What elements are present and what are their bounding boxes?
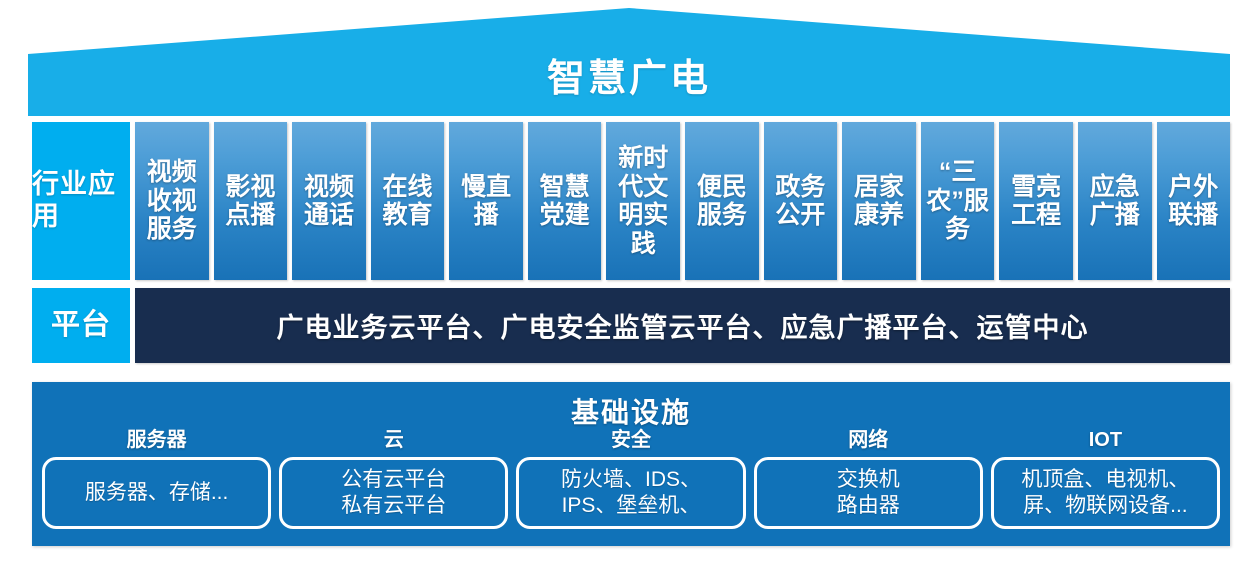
app-cell-label: 雪亮工程 [1000, 173, 1072, 230]
app-cell-label: 应急广播 [1079, 173, 1151, 230]
app-cell-label: 智慧党建 [529, 173, 601, 230]
infrastructure-box-server[interactable]: 服务器、存储... [42, 457, 271, 529]
infrastructure-column-title: 网络 [754, 430, 983, 450]
infrastructure-box-text: 公有云平台 私有云平台 [341, 467, 446, 518]
app-cell-outdoor-broadcast[interactable]: 户外联播 [1157, 122, 1231, 280]
platform-row: 平台 广电业务云平台、广电安全监管云平台、应急广播平台、运管中心 [32, 288, 1230, 363]
industry-applications-label: 行业应用 [32, 122, 130, 280]
infrastructure-box-network[interactable]: 交换机 路由器 [754, 457, 983, 529]
app-cell-label: 视频通话 [293, 173, 365, 230]
infrastructure-box-cloud[interactable]: 公有云平台 私有云平台 [279, 457, 508, 529]
app-cell-label: 户外联播 [1158, 173, 1230, 230]
app-cell-film-on-demand[interactable]: 影视点播 [214, 122, 288, 280]
industry-applications-label-text: 行业应用 [32, 169, 130, 233]
app-cell-smart-party-building[interactable]: 智慧党建 [528, 122, 602, 280]
roof-title: 智慧广电 [28, 60, 1230, 98]
roof-banner: 智慧广电 [28, 8, 1230, 118]
infrastructure-column-title: 安全 [516, 430, 745, 450]
infrastructure-column-network: 网络 交换机 路由器 [754, 430, 983, 529]
platform-label-text: 平台 [51, 308, 111, 342]
app-cell-new-era-civilization-practice[interactable]: 新时代文明实践 [606, 122, 680, 280]
infrastructure-box-text: 防火墙、IDS、 IPS、堡垒机、 [561, 467, 701, 518]
infrastructure-column-security: 安全 防火墙、IDS、 IPS、堡垒机、 [516, 430, 745, 529]
industry-applications-row: 行业应用 视频收视服务 影视点播 视频通话 在线教育 慢直播 智慧党建 新时代文… [32, 122, 1230, 280]
app-cell-xueliang-project[interactable]: 雪亮工程 [999, 122, 1073, 280]
app-cell-label: 便民服务 [686, 173, 758, 230]
infrastructure-column-title: IOT [991, 430, 1220, 450]
app-cell-online-education[interactable]: 在线教育 [371, 122, 445, 280]
app-cell-video-rating-service[interactable]: 视频收视服务 [135, 122, 209, 280]
infrastructure-box-iot[interactable]: 机顶盒、电视机、 屏、物联网设备... [991, 457, 1220, 529]
infrastructure-column-iot: IOT 机顶盒、电视机、 屏、物联网设备... [991, 430, 1220, 529]
app-cell-three-rural-service[interactable]: “三农”服务 [921, 122, 995, 280]
app-cell-label: 居家康养 [843, 173, 915, 230]
app-cell-home-care[interactable]: 居家康养 [842, 122, 916, 280]
platform-panel[interactable]: 广电业务云平台、广电安全监管云平台、应急广播平台、运管中心 [135, 288, 1230, 363]
infrastructure-column-title: 云 [279, 430, 508, 450]
app-cell-emergency-broadcast[interactable]: 应急广播 [1078, 122, 1152, 280]
infrastructure-column-cloud: 云 公有云平台 私有云平台 [279, 430, 508, 529]
app-cell-label: 影视点播 [215, 173, 287, 230]
app-cell-label: 慢直播 [450, 173, 522, 230]
app-cell-government-affairs-disclosure[interactable]: 政务公开 [764, 122, 838, 280]
infrastructure-columns: 服务器 服务器、存储... 云 公有云平台 私有云平台 安全 防火墙、IDS、 … [42, 430, 1220, 529]
platform-panel-text: 广电业务云平台、广电安全监管云平台、应急广播平台、运管中心 [277, 306, 1089, 345]
smart-broadcasting-architecture-diagram: 智慧广电 行业应用 视频收视服务 影视点播 视频通话 在线教育 慢直播 智慧党建… [0, 0, 1258, 561]
app-cell-label: 在线教育 [372, 173, 444, 230]
app-cell-label: 政务公开 [765, 173, 837, 230]
industry-applications-cells: 视频收视服务 影视点播 视频通话 在线教育 慢直播 智慧党建 新时代文明实践 便… [135, 122, 1230, 280]
infrastructure-block: 基础设施 服务器 服务器、存储... 云 公有云平台 私有云平台 安全 防火墙、… [32, 382, 1230, 546]
platform-label: 平台 [32, 288, 130, 363]
app-cell-video-call[interactable]: 视频通话 [292, 122, 366, 280]
app-cell-label: “三农”服务 [922, 158, 994, 244]
app-cell-slow-live[interactable]: 慢直播 [449, 122, 523, 280]
app-cell-convenience-service[interactable]: 便民服务 [685, 122, 759, 280]
infrastructure-column-server: 服务器 服务器、存储... [42, 430, 271, 529]
infrastructure-box-text: 机顶盒、电视机、 屏、物联网设备... [1021, 467, 1189, 518]
app-cell-label: 视频收视服务 [136, 158, 208, 244]
infrastructure-column-title: 服务器 [42, 430, 271, 450]
infrastructure-box-text: 交换机 路由器 [837, 467, 900, 518]
infrastructure-box-security[interactable]: 防火墙、IDS、 IPS、堡垒机、 [516, 457, 745, 529]
infrastructure-box-text: 服务器、存储... [85, 480, 229, 506]
app-cell-label: 新时代文明实践 [607, 144, 679, 258]
infrastructure-title: 基础设施 [32, 391, 1230, 431]
